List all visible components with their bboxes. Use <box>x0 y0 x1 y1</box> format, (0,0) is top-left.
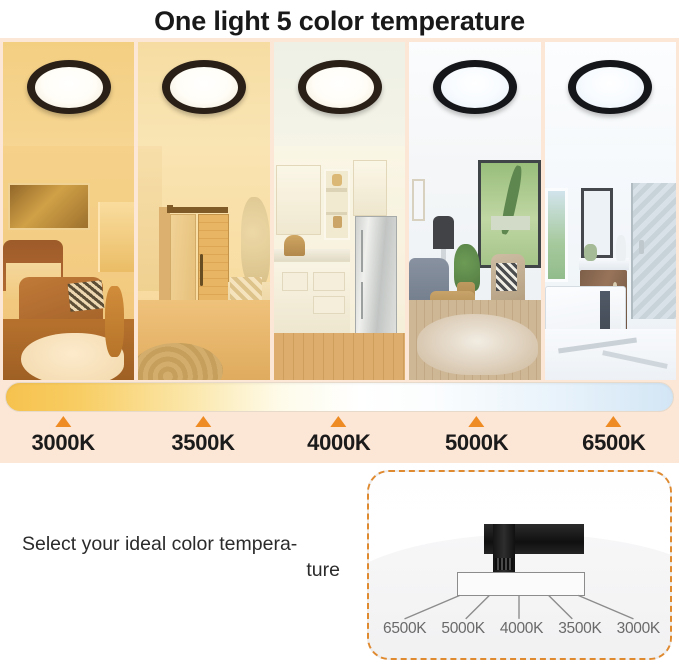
tagline-line-1: Select your ideal color tempera- <box>22 533 297 555</box>
ceiling <box>545 42 676 154</box>
marker-label: 6500K <box>582 430 645 456</box>
tagline: Select your ideal color tempera- ture <box>22 531 340 583</box>
ceiling <box>274 42 405 154</box>
marker-4000k[interactable]: 4000K <box>307 412 370 456</box>
marker-label: 4000K <box>307 430 370 456</box>
ceiling-light-fixture-icon <box>568 60 652 114</box>
room-panel-strip <box>0 42 679 380</box>
marker-label: 3500K <box>171 430 234 456</box>
room-panel-6500k[interactable] <box>545 42 676 380</box>
switch-closeup-inset[interactable]: 6500K 5000K 4000K 3500K 3000K <box>367 470 672 660</box>
marker-label: 5000K <box>445 430 508 456</box>
ceiling <box>3 42 134 154</box>
color-temperature-showcase: 3000K 3500K 4000K 5000K 6500K <box>0 38 679 463</box>
room-panel-3000k[interactable] <box>3 42 134 380</box>
room-panel-5000k[interactable] <box>409 42 540 380</box>
marker-5000k[interactable]: 5000K <box>445 412 508 456</box>
triangle-marker-icon <box>606 416 622 427</box>
triangle-marker-icon <box>469 416 485 427</box>
room-scene-living-room <box>409 146 540 380</box>
ceiling-light-fixture-icon <box>27 60 111 114</box>
bottom-section: Select your ideal color tempera- ture 65… <box>0 463 679 665</box>
marker-3000k[interactable]: 3000K <box>31 412 94 456</box>
temperature-gradient-bar <box>5 382 674 412</box>
room-panel-3500k[interactable] <box>138 42 269 380</box>
tagline-line-2: ture <box>22 557 340 583</box>
room-scene-bathroom <box>545 146 676 380</box>
room-scene-kitchen <box>274 146 405 380</box>
ceiling <box>409 42 540 154</box>
switch-label-3000k: 3000K <box>617 620 660 638</box>
marker-label: 3000K <box>31 430 94 456</box>
switch-label-4000k: 4000K <box>500 620 543 638</box>
triangle-marker-icon <box>195 416 211 427</box>
switch-label-6500k: 6500K <box>383 620 426 638</box>
room-panel-4000k[interactable] <box>274 42 405 380</box>
ceiling <box>138 42 269 154</box>
page-title: One light 5 color temperature <box>154 6 525 37</box>
switch-label-3500k: 3500K <box>558 620 601 638</box>
marker-3500k[interactable]: 3500K <box>171 412 234 456</box>
room-scene-hallway <box>138 146 269 380</box>
switch-temperature-labels: 6500K 5000K 4000K 3500K 3000K <box>383 620 660 638</box>
marker-6500k[interactable]: 6500K <box>582 412 645 456</box>
ceiling-light-fixture-icon <box>162 60 246 114</box>
heading-band: One light 5 color temperature <box>0 0 679 42</box>
temperature-markers: 3000K 3500K 4000K 5000K 6500K <box>0 412 679 463</box>
switch-label-5000k: 5000K <box>441 620 484 638</box>
ceiling-light-fixture-icon <box>298 60 382 114</box>
triangle-marker-icon <box>331 416 347 427</box>
triangle-marker-icon <box>55 416 71 427</box>
color-temperature-scale: 3000K 3500K 4000K 5000K 6500K <box>0 382 679 463</box>
ceiling-light-fixture-icon <box>433 60 517 114</box>
room-scene-bedroom <box>3 146 134 380</box>
